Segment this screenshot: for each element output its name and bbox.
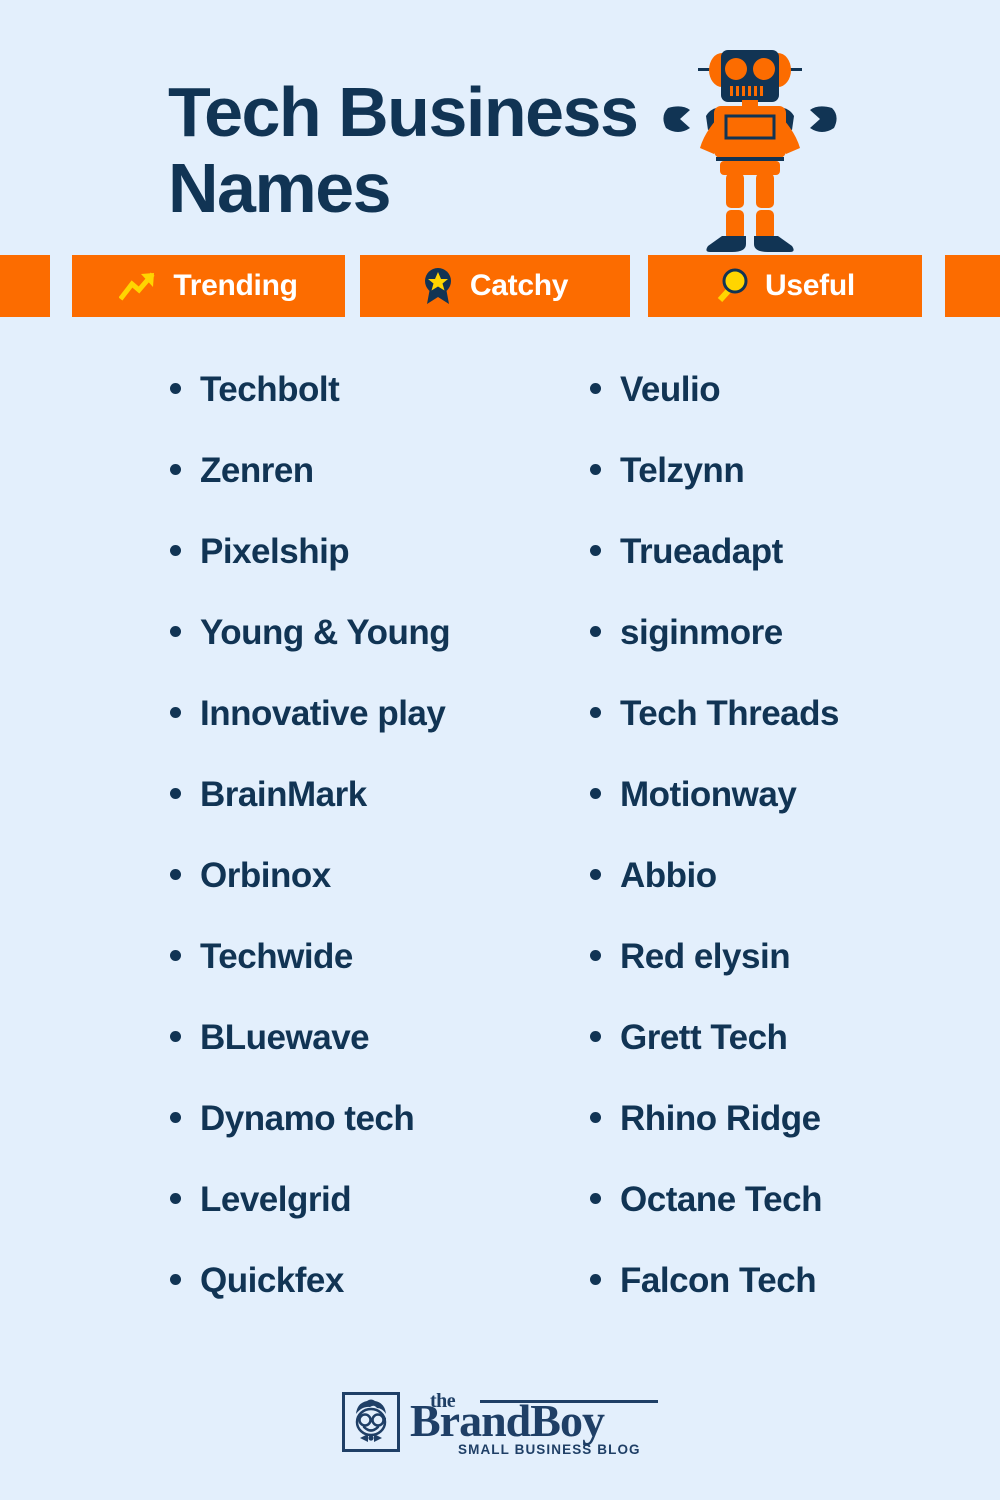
- list-item[interactable]: Orbinox: [170, 856, 560, 937]
- list-item[interactable]: BLuewave: [170, 1018, 560, 1099]
- badge-bar-right-accent: [945, 255, 1000, 317]
- badge-trending[interactable]: Trending: [72, 255, 345, 317]
- list-item[interactable]: Dynamo tech: [170, 1099, 560, 1180]
- list-item[interactable]: Techwide: [170, 937, 560, 1018]
- list-item[interactable]: Tech Threads: [590, 694, 980, 775]
- bullet-icon: [170, 626, 181, 637]
- list-item[interactable]: Zenren: [170, 451, 560, 532]
- list-item[interactable]: Levelgrid: [170, 1180, 560, 1261]
- logo-tagline: SMALL BUSINESS BLOG: [458, 1442, 641, 1457]
- name-lists: Techbolt Zenren Pixelship Young & Young …: [0, 370, 1000, 1342]
- brandboy-logo[interactable]: the BrandBoy SMALL BUSINESS BLOG: [342, 1392, 658, 1454]
- list-item[interactable]: Young & Young: [170, 613, 560, 694]
- list-item[interactable]: Red elysin: [590, 937, 980, 1018]
- bullet-icon: [590, 1112, 601, 1123]
- bullet-icon: [170, 545, 181, 556]
- category-badge-bar: Trending Catchy Useful: [0, 255, 1000, 317]
- list-item[interactable]: Techbolt: [170, 370, 560, 451]
- list-item[interactable]: Grett Tech: [590, 1018, 980, 1099]
- bullet-icon: [170, 464, 181, 475]
- badge-useful-label: Useful: [765, 269, 855, 303]
- bullet-icon: [590, 1193, 601, 1204]
- header: Tech Business Names: [0, 0, 1000, 250]
- badge-useful[interactable]: Useful: [648, 255, 922, 317]
- list-item[interactable]: Pixelship: [170, 532, 560, 613]
- list-item[interactable]: Trueadapt: [590, 532, 980, 613]
- bullet-icon: [590, 1274, 601, 1285]
- badge-catchy[interactable]: Catchy: [360, 255, 630, 317]
- badge-trending-label: Trending: [173, 269, 297, 303]
- badge-bar-left-accent: [0, 255, 50, 317]
- bullet-icon: [170, 1193, 181, 1204]
- list-item[interactable]: Veulio: [590, 370, 980, 451]
- list-item[interactable]: Rhino Ridge: [590, 1099, 980, 1180]
- trending-up-icon: [119, 271, 157, 301]
- bullet-icon: [170, 869, 181, 880]
- logo-name-text: BrandBoy: [410, 1398, 604, 1444]
- magnifier-icon: [715, 267, 749, 305]
- bullet-icon: [170, 383, 181, 394]
- badge-catchy-label: Catchy: [470, 269, 568, 303]
- list-item[interactable]: Falcon Tech: [590, 1261, 980, 1342]
- list-item[interactable]: Telzynn: [590, 451, 980, 532]
- list-item[interactable]: siginmore: [590, 613, 980, 694]
- brandboy-wordmark: the BrandBoy SMALL BUSINESS BLOG: [410, 1392, 658, 1454]
- bullet-icon: [590, 788, 601, 799]
- robot-illustration: [660, 40, 840, 260]
- name-list-left-column: Techbolt Zenren Pixelship Young & Young …: [170, 370, 560, 1342]
- list-item[interactable]: Innovative play: [170, 694, 560, 775]
- list-item[interactable]: Abbio: [590, 856, 980, 937]
- bullet-icon: [590, 545, 601, 556]
- page-title: Tech Business Names: [168, 74, 688, 226]
- bullet-icon: [590, 626, 601, 637]
- bullet-icon: [170, 707, 181, 718]
- list-item[interactable]: BrainMark: [170, 775, 560, 856]
- bullet-icon: [590, 707, 601, 718]
- bullet-icon: [590, 383, 601, 394]
- bullet-icon: [170, 788, 181, 799]
- bullet-icon: [590, 464, 601, 475]
- bullet-icon: [170, 1112, 181, 1123]
- name-list-right-column: Veulio Telzynn Trueadapt siginmore Tech …: [590, 370, 980, 1342]
- bullet-icon: [590, 869, 601, 880]
- list-item[interactable]: Motionway: [590, 775, 980, 856]
- bullet-icon: [170, 1031, 181, 1042]
- brandboy-boy-face-icon: [342, 1392, 400, 1452]
- bullet-icon: [170, 1274, 181, 1285]
- bullet-icon: [590, 1031, 601, 1042]
- list-item[interactable]: Octane Tech: [590, 1180, 980, 1261]
- bullet-icon: [590, 950, 601, 961]
- bullet-icon: [170, 950, 181, 961]
- footer: the BrandBoy SMALL BUSINESS BLOG: [0, 1392, 1000, 1454]
- award-ribbon-icon: [422, 266, 454, 306]
- list-item[interactable]: Quickfex: [170, 1261, 560, 1342]
